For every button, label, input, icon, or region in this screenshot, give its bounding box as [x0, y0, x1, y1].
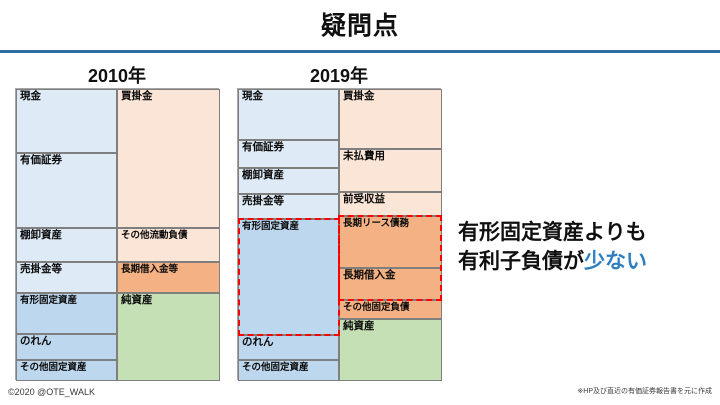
bs-item-liability-2019-2: 前受収益 — [339, 192, 442, 216]
balance-sheet-chart-2010: 現金有価証券棚卸資産売掛金等有形固定資産のれんその他固定資産 買掛金その他流動負… — [15, 88, 219, 380]
bs-item-asset-2019-0: 現金 — [238, 89, 339, 140]
bs-item-liability-2019-1: 未払費用 — [339, 149, 442, 192]
bs-item-asset-2019-5: のれん — [238, 335, 339, 360]
footer-copyright: ©2020 @OTE_WALK — [8, 387, 95, 397]
bs-item-liability-2010-0: 買掛金 — [117, 89, 220, 228]
chart-heading-2010: 2010年 — [15, 62, 219, 88]
annotation-callout: 有形固定資産よりも 有利子負債が少ない — [458, 218, 714, 276]
bs-item-asset-2019-1: 有価証券 — [238, 140, 339, 168]
chart-heading-2019: 2019年 — [237, 62, 441, 88]
assets-column-2019: 現金有価証券棚卸資産売掛金等有形固定資産のれんその他固定資産 — [238, 89, 339, 379]
title-divider — [0, 50, 720, 53]
bs-item-liability-2019-0: 買掛金 — [339, 89, 442, 149]
assets-column-2010: 現金有価証券棚卸資産売掛金等有形固定資産のれんその他固定資産 — [16, 89, 117, 379]
bs-item-liability-2019-6: 純資産 — [339, 319, 442, 381]
annotation-line-1: 有形固定資産よりも — [458, 218, 714, 247]
bs-item-asset-2010-1: 有価証券 — [16, 153, 117, 228]
bs-item-liability-2019-5: その他固定負債 — [339, 300, 442, 319]
bs-item-liability-2010-3: 純資産 — [117, 293, 220, 381]
bs-item-asset-2019-3: 売掛金等 — [238, 194, 339, 219]
bs-item-asset-2010-4: 有形固定資産 — [16, 293, 117, 334]
page-title: 疑問点 — [0, 6, 720, 42]
bs-item-asset-2010-5: のれん — [16, 334, 117, 360]
bs-item-asset-2019-4: 有形固定資産 — [238, 219, 339, 335]
liabilities-column-2010: 買掛金その他流動負債長期借入金等純資産 — [117, 89, 220, 379]
bs-item-liability-2010-2: 長期借入金等 — [117, 262, 220, 293]
bs-item-liability-2010-1: その他流動負債 — [117, 228, 220, 262]
annotation-highlight-word: 少ない — [584, 250, 647, 273]
bs-item-liability-2019-4: 長期借入金 — [339, 268, 442, 300]
bs-item-asset-2010-3: 売掛金等 — [16, 262, 117, 293]
annotation-line-2: 有利子負債が少ない — [458, 247, 714, 276]
bs-item-asset-2010-6: その他固定資産 — [16, 360, 117, 381]
footer-source-note: ※HP及び直近の有価証券報告書を元に作成 — [577, 386, 712, 396]
liabilities-column-2019: 買掛金未払費用前受収益長期リース債務長期借入金その他固定負債純資産 — [339, 89, 442, 379]
slide-root: 疑問点 2010年 2019年 現金有価証券棚卸資産売掛金等有形固定資産のれんそ… — [0, 0, 720, 405]
bs-item-asset-2010-0: 現金 — [16, 89, 117, 153]
annotation-line-2-prefix: 有利子負債が — [458, 250, 584, 273]
balance-sheet-chart-2019: 現金有価証券棚卸資産売掛金等有形固定資産のれんその他固定資産 買掛金未払費用前受… — [237, 88, 441, 380]
bs-item-asset-2019-2: 棚卸資産 — [238, 168, 339, 194]
bs-item-asset-2010-2: 棚卸資産 — [16, 228, 117, 262]
bs-item-asset-2019-6: その他固定資産 — [238, 360, 339, 381]
bs-item-liability-2019-3: 長期リース債務 — [339, 216, 442, 268]
